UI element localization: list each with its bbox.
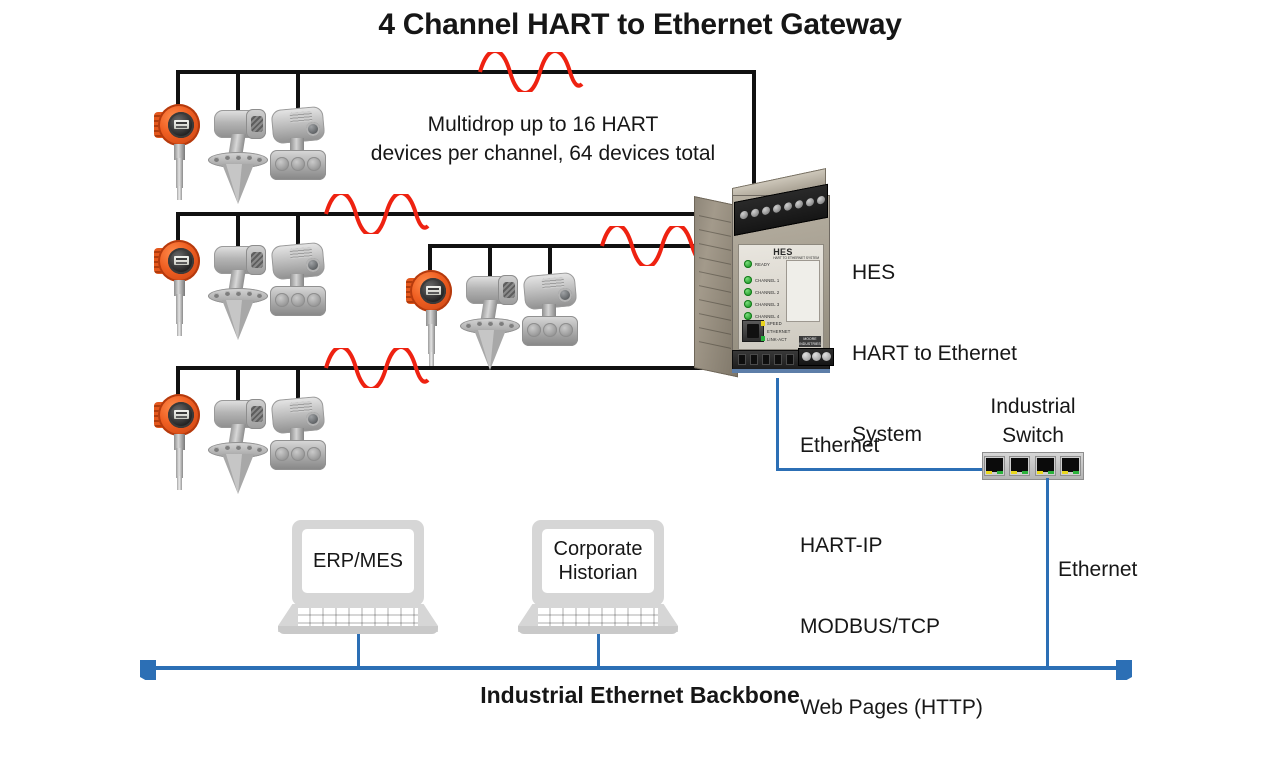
port-label-speed: SPEED [767,321,782,326]
radar-horn-cone-icon [474,330,506,370]
led-label-channel-2: CHANNEL 2 [755,290,779,295]
rj45-jack-icon [1037,458,1054,472]
hes-callout-line-2: HART to Ethernet [852,340,1017,367]
port-led-yellow [1037,471,1043,474]
laptop-keyboard [538,608,658,626]
temperature-transmitter-4[interactable] [152,394,212,494]
pressure-transmitter-2[interactable] [266,242,332,338]
radar-flange-bolts [466,322,514,330]
temperature-transmitter-3[interactable] [404,270,464,370]
port-led-green [1022,471,1028,474]
led-label-channel-4: CHANNEL 4 [755,314,779,319]
port-led-green [997,471,1003,474]
pressure-manifold [522,316,578,346]
pressure-transmitter-3[interactable] [518,272,584,368]
radar-flange-bolts [214,292,262,300]
hart-bus-channel-1 [176,70,756,74]
transmitter-lcd [174,120,189,129]
multidrop-line-1: Multidrop up to 16 HART [318,110,768,139]
hes-callout-line-1: HES [852,259,1017,286]
transmitter-lcd [426,286,441,295]
laptop-screen: Corporate Historian [542,529,654,593]
hes-brand-label: HES HART TO ETHERNET SYSTEM [773,247,819,261]
rj45-jack-icon [1011,458,1028,472]
led-ready [744,260,752,268]
erp-mes-label: ERP/MES [313,549,403,573]
transmitter-lcd [174,256,189,265]
port-led-green [1048,471,1054,474]
led-channel-4 [744,312,752,320]
industrial-switch[interactable] [982,452,1084,480]
transmitter-lcd [174,410,189,419]
protocol-hart-ip: HART-IP [800,532,983,559]
speed-led [761,321,765,326]
port-led-green [1073,471,1079,474]
hart-signal-wave-1 [478,52,584,92]
switch-port-3[interactable] [1035,456,1056,476]
hes-gateway-module[interactable]: HES HART TO ETHERNET SYSTEM READY CHANNE… [694,188,840,380]
pressure-transmitter-1[interactable] [266,106,332,202]
led-label-ready: READY [755,262,770,267]
hes-label-window [786,260,820,322]
radar-cap [246,399,266,429]
rj45-jack-icon [1062,458,1079,472]
switch-port-1[interactable] [984,456,1005,476]
switch-port-2[interactable] [1009,456,1030,476]
transmitter-stem [176,158,183,188]
led-channel-2 [744,288,752,296]
transmitter-probe-tip [177,476,182,490]
hes-ethernet-port[interactable] [742,320,764,342]
radar-level-transmitter-1[interactable] [206,106,272,208]
radar-level-transmitter-3[interactable] [458,272,524,374]
pressure-port-icon [306,412,320,426]
radar-horn-cone-icon [222,454,254,494]
corporate-historian-workstation[interactable]: Corporate Historian [518,520,678,638]
transmitter-probe-tip [177,322,182,336]
port-led-yellow [1062,471,1068,474]
hes-faceplate: HES HART TO ETHERNET SYSTEM READY CHANNE… [738,244,824,350]
radar-flange-bolts [214,156,262,164]
laptop-lid: ERP/MES [292,520,424,606]
pressure-port-icon [306,122,320,136]
laptop-lid: Corporate Historian [532,520,664,606]
laptop-front-edge [518,626,678,634]
switch-port-4[interactable] [1060,456,1081,476]
ethernet-label-switch: Ethernet [1058,556,1137,583]
transmitter-stem [176,448,183,478]
radar-cap [246,109,266,139]
link-act-led [761,336,765,341]
led-channel-1 [744,276,752,284]
pressure-fins [290,111,313,123]
radar-level-transmitter-2[interactable] [206,242,272,344]
port-label-link-act: LINK-ACT [767,337,787,342]
radar-horn-cone-icon [222,300,254,340]
page-title: 4 Channel HART to Ethernet Gateway [0,8,1280,42]
corporate-historian-label: Corporate Historian [554,537,643,585]
port-led-yellow [986,471,992,474]
laptop-keyboard [298,608,418,626]
switch-label-line-2: Switch [958,421,1108,450]
ethernet-label-hes: Ethernet [800,432,879,459]
industrial-ethernet-backbone-arrow [140,660,1132,680]
backbone-label: Industrial Ethernet Backbone [0,682,1280,709]
hart-signal-wave-3 [600,226,706,266]
hart-bus-channel-2 [176,212,706,216]
temperature-transmitter-2[interactable] [152,240,212,340]
pressure-fins [542,277,565,289]
led-label-channel-3: CHANNEL 3 [755,302,779,307]
protocol-modbus-tcp: MODBUS/TCP [800,613,983,640]
temperature-transmitter-1[interactable] [152,104,212,204]
ethernet-link-switch-to-backbone [1046,478,1049,668]
port-label-ethernet: ETHERNET [767,329,790,334]
port-led-yellow [1011,471,1017,474]
pressure-manifold [270,440,326,470]
protocol-list: HART-IP MODBUS/TCP Web Pages (HTTP) [800,478,983,775]
pressure-fins [290,401,313,413]
diagram-canvas: 4 Channel HART to Ethernet Gateway Multi… [0,0,1280,720]
pressure-manifold [270,286,326,316]
transmitter-stem [428,324,435,354]
pressure-port-icon [558,288,572,302]
radar-cap [498,275,518,305]
ethernet-link-hes-vertical [776,378,779,470]
multidrop-annotation: Multidrop up to 16 HART devices per chan… [318,110,768,168]
ethernet-link-hes-to-switch [776,468,984,471]
led-label-channel-1: CHANNEL 1 [755,278,779,283]
manufacturer-line-2: INDUSTRIES [799,342,821,347]
led-channel-3 [744,300,752,308]
laptop-screen: ERP/MES [302,529,414,593]
radar-flange-bolts [214,446,262,454]
rj45-jack-icon [986,458,1003,472]
erp-mes-workstation[interactable]: ERP/MES [278,520,438,638]
radar-cap [246,245,266,275]
radar-horn-cone-icon [222,164,254,204]
hart-signal-wave-2 [324,194,430,234]
transmitter-probe-tip [429,352,434,366]
hes-power-connector[interactable] [798,348,834,366]
manufacturer-logo: MOORE INDUSTRIES [799,336,821,347]
switch-label-line-1: Industrial [958,392,1108,421]
transmitter-stem [176,294,183,324]
transmitter-probe-tip [177,186,182,200]
industrial-switch-label: Industrial Switch [958,392,1108,450]
pressure-transmitter-4[interactable] [266,396,332,492]
radar-level-transmitter-4[interactable] [206,396,272,498]
pressure-manifold [270,150,326,180]
hes-din-rail-strip [732,369,830,373]
pressure-port-icon [306,258,320,272]
multidrop-line-2: devices per channel, 64 devices total [318,139,768,168]
pressure-fins [290,247,313,259]
laptop-front-edge [278,626,438,634]
